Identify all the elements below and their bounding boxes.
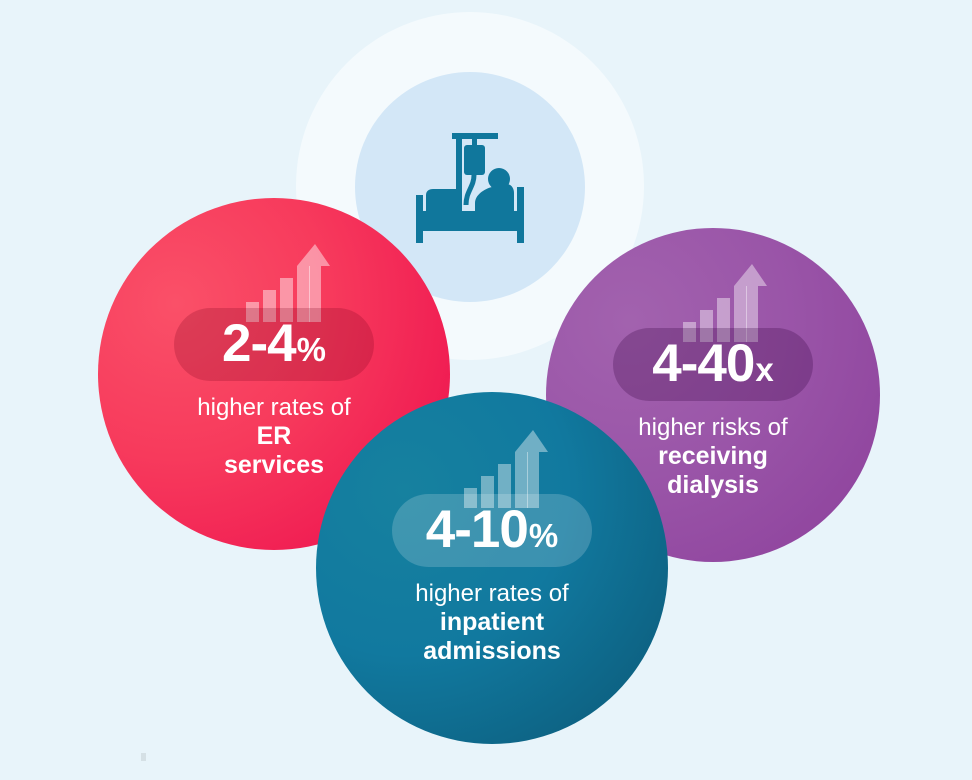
stat-unit: %: [297, 333, 326, 366]
stat-value: 4-40: [652, 337, 754, 390]
stat-value: 4-10: [426, 503, 528, 556]
hospital-bed-icon: [404, 125, 536, 249]
stat-unit: %: [529, 519, 558, 552]
caption-lead: higher rates of: [347, 580, 637, 608]
stat-unit: x: [755, 353, 773, 386]
stat-value: 2-4: [222, 317, 296, 370]
caption-lead: higher rates of: [129, 394, 419, 422]
infographic-canvas: 2-4 % higher rates of ER services: [0, 0, 972, 780]
stat-pill: 4-40 x: [613, 328, 813, 401]
corner-artifact-mark: [141, 753, 146, 761]
bubble-caption: higher rates of inpatient admissions: [347, 580, 637, 667]
caption-strong-2: admissions: [347, 637, 637, 666]
stat-pill: 4-10 %: [392, 494, 592, 567]
bubble-content: 4-10 % higher rates of inpatient admissi…: [316, 430, 668, 667]
stat-bubble-inpatient-admissions[interactable]: 4-10 % higher rates of inpatient admissi…: [316, 392, 668, 744]
stat-pill: 2-4 %: [174, 308, 374, 381]
caption-strong-1: inpatient: [347, 608, 637, 637]
